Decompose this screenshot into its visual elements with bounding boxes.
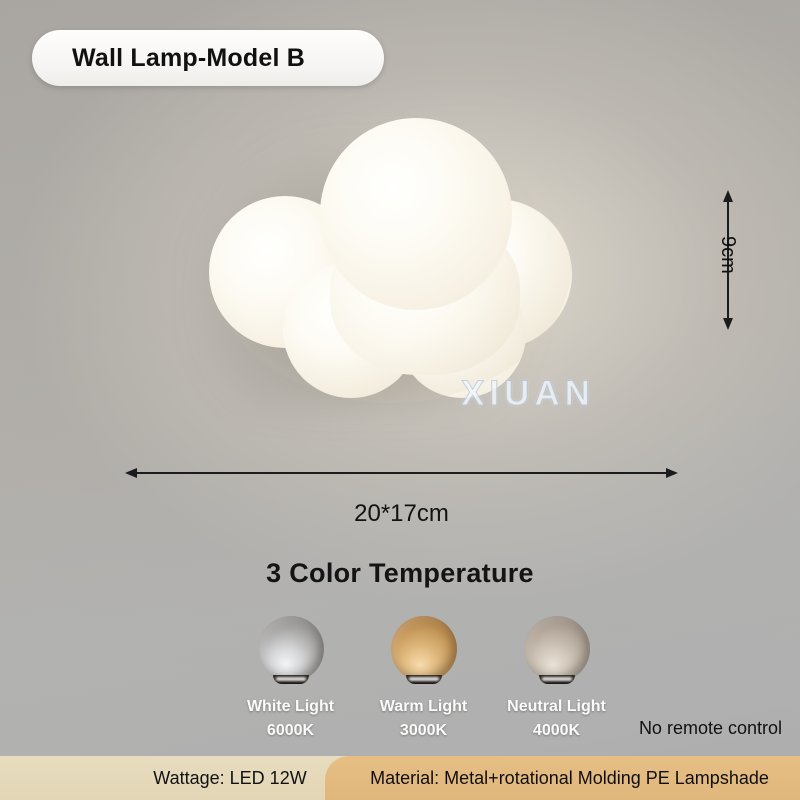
color-temperature-kelvin: 3000K <box>400 722 447 740</box>
color-temperature-name: Warm Light <box>380 698 467 716</box>
cloud-lobe-top <box>320 118 512 310</box>
bulb-globe <box>524 616 590 682</box>
width-dimension <box>125 472 678 474</box>
material-bar: Material: Metal+rotational Molding PE La… <box>325 756 800 800</box>
bulb-globe <box>258 616 324 682</box>
bulb-white-icon <box>258 616 324 684</box>
arrow-right-icon <box>666 468 678 478</box>
width-dimension-label: 20*17cm <box>125 500 678 528</box>
bulb-base <box>273 675 309 684</box>
bulb-neutral-icon <box>524 616 590 684</box>
height-dimension-label: 9cm <box>716 236 739 274</box>
arrow-down-icon <box>723 318 733 330</box>
product-image-scene: Wall Lamp-Model B XIUAN 9cm 20*17cm 3 Co… <box>0 0 800 800</box>
remote-control-note: No remote control <box>639 718 782 739</box>
watermark: XIUAN <box>461 374 595 414</box>
color-temperature-name: White Light <box>247 698 334 716</box>
color-temperature-option-warm[interactable]: Warm Light 3000K <box>357 616 490 740</box>
bulb-base <box>406 675 442 684</box>
color-temperature-kelvin: 6000K <box>267 722 314 740</box>
color-temperature-kelvin: 4000K <box>533 722 580 740</box>
bulb-warm-icon <box>391 616 457 684</box>
height-dimension: 9cm <box>727 190 729 330</box>
bulb-base <box>539 675 575 684</box>
cloud-lamp-icon <box>0 0 800 520</box>
color-temperature-option-neutral[interactable]: Neutral Light 4000K <box>490 616 623 740</box>
dimension-line-horizontal <box>133 472 670 474</box>
color-temperature-option-white[interactable]: White Light 6000K <box>224 616 357 740</box>
color-temperature-name: Neutral Light <box>507 698 606 716</box>
color-temperature-options: White Light 6000K Warm Light 3000K Neutr… <box>224 616 624 740</box>
color-temperature-heading: 3 Color Temperature <box>0 558 800 589</box>
bulb-globe <box>391 616 457 682</box>
material-label: Material: Metal+rotational Molding PE La… <box>325 768 800 789</box>
